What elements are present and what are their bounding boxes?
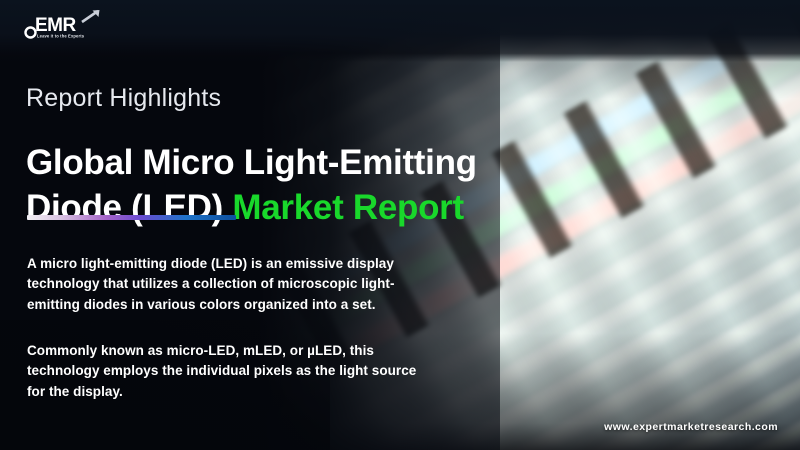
title-line-1: Global Micro Light-Emitting bbox=[26, 143, 477, 182]
body-paragraph-1: A micro light-emitting diode (LED) is an… bbox=[27, 254, 427, 316]
title-divider bbox=[27, 215, 236, 220]
title-line-2-accent: Market Report bbox=[232, 188, 463, 227]
report-highlights-banner: EMR Leave it to the Experts Report Highl… bbox=[0, 0, 800, 450]
body-paragraph-2: Commonly known as micro-LED, mLED, or µL… bbox=[27, 341, 427, 403]
emr-logo[interactable]: EMR Leave it to the Experts bbox=[22, 8, 114, 40]
website-url[interactable]: www.expertmarketresearch.com bbox=[604, 421, 778, 433]
eyebrow-label: Report Highlights bbox=[26, 84, 221, 113]
logo-circle-icon bbox=[26, 28, 36, 38]
emr-logo-mark: EMR Leave it to the Experts bbox=[22, 8, 114, 40]
title-line-2-main: Diode (LED) bbox=[26, 188, 232, 227]
logo-tagline: Leave it to the Experts bbox=[37, 34, 85, 39]
